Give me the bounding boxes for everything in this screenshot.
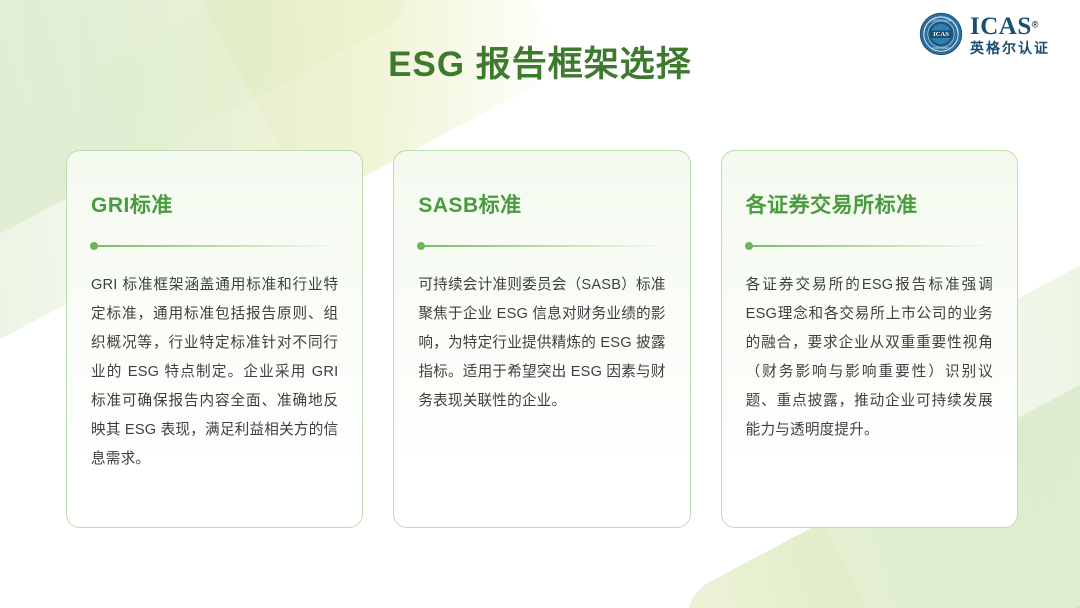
page-title: ESG 报告框架选择 (0, 36, 1080, 87)
divider-dot-icon (90, 242, 98, 250)
divider-dot-icon (745, 242, 753, 250)
svg-text:ASSESSMENT: ASSESSMENT (932, 46, 950, 50)
card-body-text: 各证券交易所的ESG报告标准强调ESG理念和各交易所上市公司的业务的融合，要求企… (746, 271, 993, 445)
card-divider (746, 245, 993, 247)
logo-wordmark-row: ICAS® (970, 14, 1050, 39)
svg-text:CERTIFICATION: CERTIFICATION (931, 19, 951, 23)
divider-dot-icon (417, 242, 425, 250)
framework-card-sasb[interactable]: SASB标准 可持续会计准则委员会（SASB）标准聚焦于企业 ESG 信息对财务… (393, 150, 690, 528)
framework-card-list: GRI标准 GRI 标准框架涵盖通用标准和行业特定标准，通用标准包括报告原则、组… (66, 150, 1018, 528)
card-divider (91, 245, 338, 247)
framework-card-stock-exchanges[interactable]: 各证券交易所标准 各证券交易所的ESG报告标准强调ESG理念和各交易所上市公司的… (721, 150, 1018, 528)
card-divider (418, 245, 665, 247)
framework-card-gri[interactable]: GRI标准 GRI 标准框架涵盖通用标准和行业特定标准，通用标准包括报告原则、组… (66, 150, 363, 528)
card-title: SASB标准 (418, 189, 665, 219)
card-body-text: 可持续会计准则委员会（SASB）标准聚焦于企业 ESG 信息对财务业绩的影响，为… (418, 271, 665, 416)
logo-chinese-name: 英格尔认证 (970, 41, 1050, 55)
logo-wordmark: ICAS (970, 14, 1032, 39)
slide-canvas: ESG 报告框架选择 ICAS CERTIFICATION ASSESSMENT… (0, 0, 1080, 608)
icas-seal-icon: ICAS CERTIFICATION ASSESSMENT (919, 12, 963, 56)
card-body-text: GRI 标准框架涵盖通用标准和行业特定标准，通用标准包括报告原则、组织概况等，行… (91, 271, 338, 474)
brand-logo: ICAS CERTIFICATION ASSESSMENT ICAS® 英格尔认… (919, 12, 1050, 56)
card-title: 各证券交易所标准 (746, 189, 993, 219)
registered-trademark-icon: ® (1032, 19, 1039, 29)
logo-text-block: ICAS® 英格尔认证 (970, 14, 1050, 55)
card-title: GRI标准 (91, 189, 338, 219)
svg-text:ICAS: ICAS (933, 31, 949, 38)
